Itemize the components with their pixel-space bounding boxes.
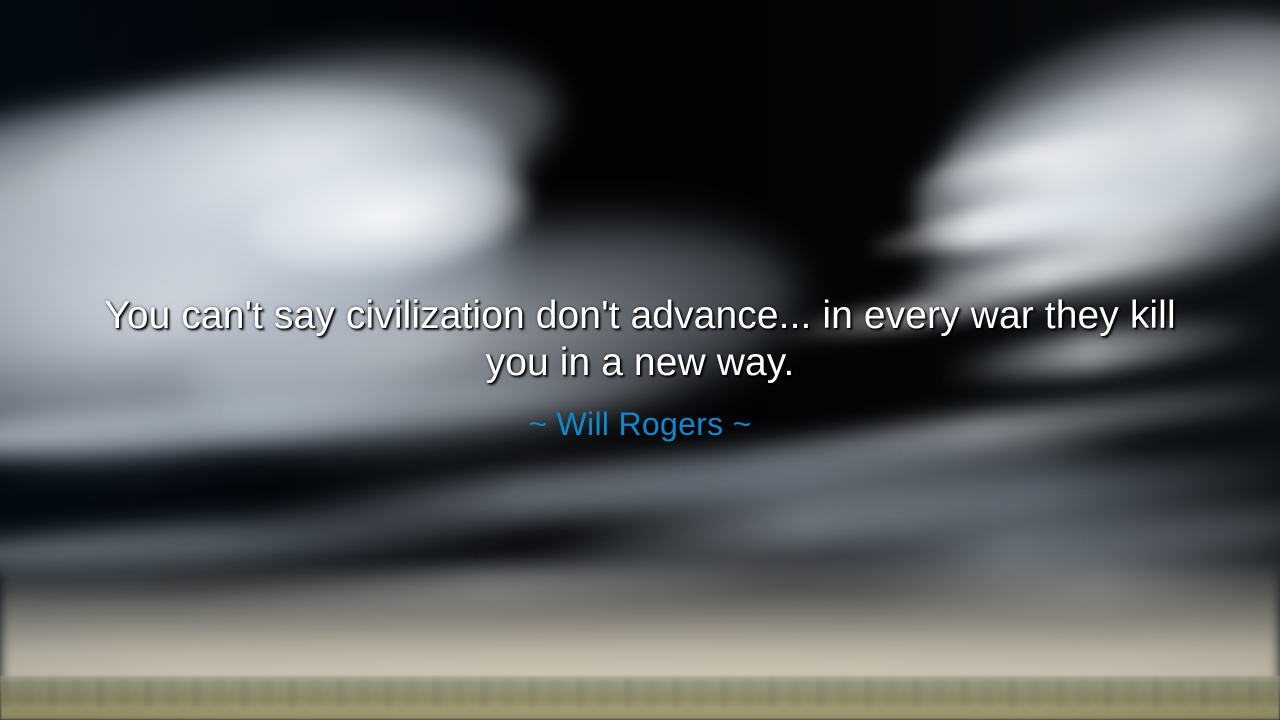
quote-text: You can't say civilization don't advance… (95, 292, 1185, 386)
author-block: ~ Will Rogers ~ (0, 405, 1280, 443)
quote-wallpaper-screen: You can't say civilization don't advance… (0, 0, 1280, 720)
author-attribution: ~ Will Rogers ~ (0, 405, 1280, 443)
quote-block: You can't say civilization don't advance… (0, 292, 1280, 386)
